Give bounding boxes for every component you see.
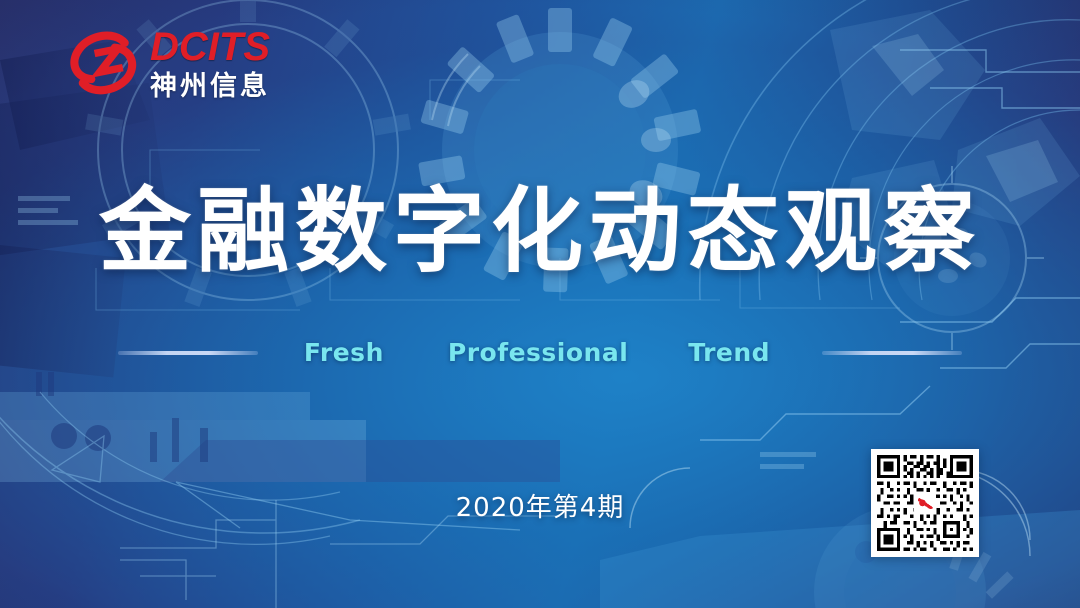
brand-name-cn: 神州信息: [150, 73, 270, 100]
tagline-word-trend: Trend: [688, 338, 770, 367]
dcits-swoosh-icon: [66, 26, 140, 100]
brand-wordmark: DCITS 神州信息: [150, 27, 270, 100]
tagline-rule-left: [118, 351, 258, 355]
tagline-word-professional: Professional: [448, 338, 628, 367]
wechat-qr-code[interactable]: [871, 449, 979, 557]
tagline-rule-right: [822, 351, 962, 355]
tagline-word-fresh: Fresh: [304, 338, 384, 367]
brand-name-en: DCITS: [150, 27, 270, 67]
tagline-row: Fresh Professional Trend: [0, 338, 1080, 367]
brand-logo: DCITS 神州信息: [66, 26, 270, 100]
poster-title: 金融数字化动态观察: [0, 186, 1080, 278]
poster-cover: DCITS 神州信息 金融数字化动态观察 Fresh Professional …: [0, 0, 1080, 608]
qr-center-logo-icon: [914, 492, 936, 514]
